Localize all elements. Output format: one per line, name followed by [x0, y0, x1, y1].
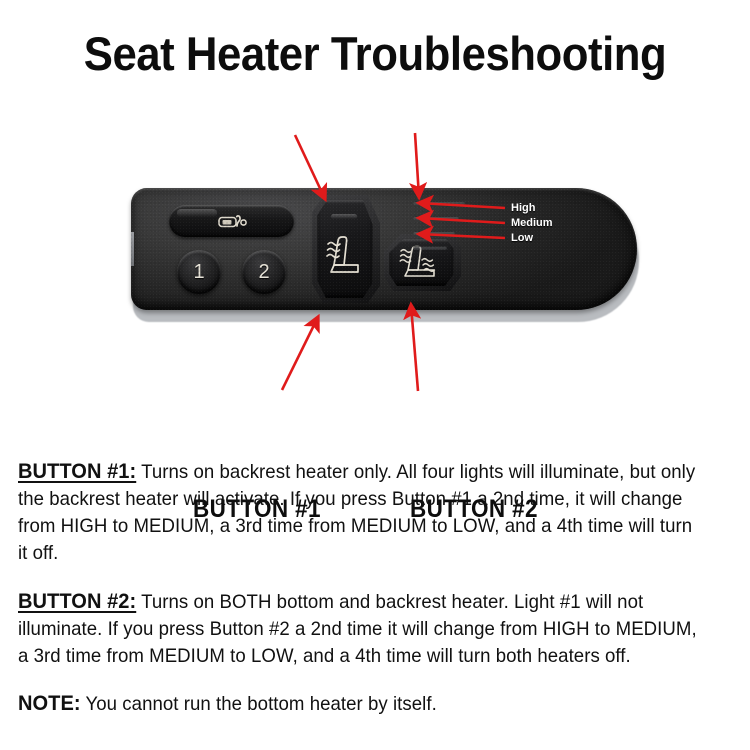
level-label-low: Low — [511, 232, 533, 244]
led-indicator-2 — [413, 216, 459, 220]
preset-button-1[interactable]: 1 — [177, 250, 221, 294]
heater-button-1[interactable] — [317, 200, 373, 298]
instruction-lead-button-2: BUTTON #2: — [18, 590, 136, 613]
preset-button-2[interactable]: 2 — [242, 250, 286, 294]
instruction-paragraph-note: NOTE: You cannot run the bottom heater b… — [18, 690, 702, 718]
heated-seat-backrest-icon — [325, 234, 365, 278]
arrow-button-1 — [282, 317, 318, 390]
led-indicator-4 — [413, 246, 447, 250]
instruction-lead-button-1: BUTTON #1: — [18, 460, 136, 483]
seat-heater-control-panel: 1 2 — [131, 188, 641, 323]
page-title: Seat Heater Troubleshooting — [26, 28, 724, 80]
instruction-body-note: You cannot run the bottom heater by itse… — [86, 693, 437, 715]
panel-body: 1 2 — [131, 188, 637, 310]
memory-button-gloss — [177, 209, 217, 217]
level-label-medium: Medium — [511, 217, 553, 229]
led-indicator-1 — [413, 201, 465, 205]
heater-button-1-gloss — [331, 214, 357, 219]
control-panel-diagram: LIGHT #1 LIGHT #2 BUTTON #1 BUTTON #2 — [0, 95, 750, 440]
level-label-high: High — [511, 202, 535, 214]
panel-side-nub — [131, 232, 134, 266]
troubleshooting-infographic: Seat Heater Troubleshooting LIGHT #1 LIG… — [0, 0, 750, 750]
preset-button-2-label: 2 — [258, 262, 269, 282]
preset-button-1-label: 1 — [193, 262, 204, 282]
seat-memory-icon — [215, 212, 249, 231]
instruction-paragraph-button-1: BUTTON #1: Turns on backrest heater only… — [18, 458, 702, 567]
seat-memory-button[interactable] — [169, 205, 294, 237]
instruction-lead-note: NOTE: — [18, 692, 81, 715]
led-indicator-3 — [413, 231, 455, 235]
instruction-paragraph-button-2: BUTTON #2: Turns on BOTH bottom and back… — [18, 588, 702, 670]
